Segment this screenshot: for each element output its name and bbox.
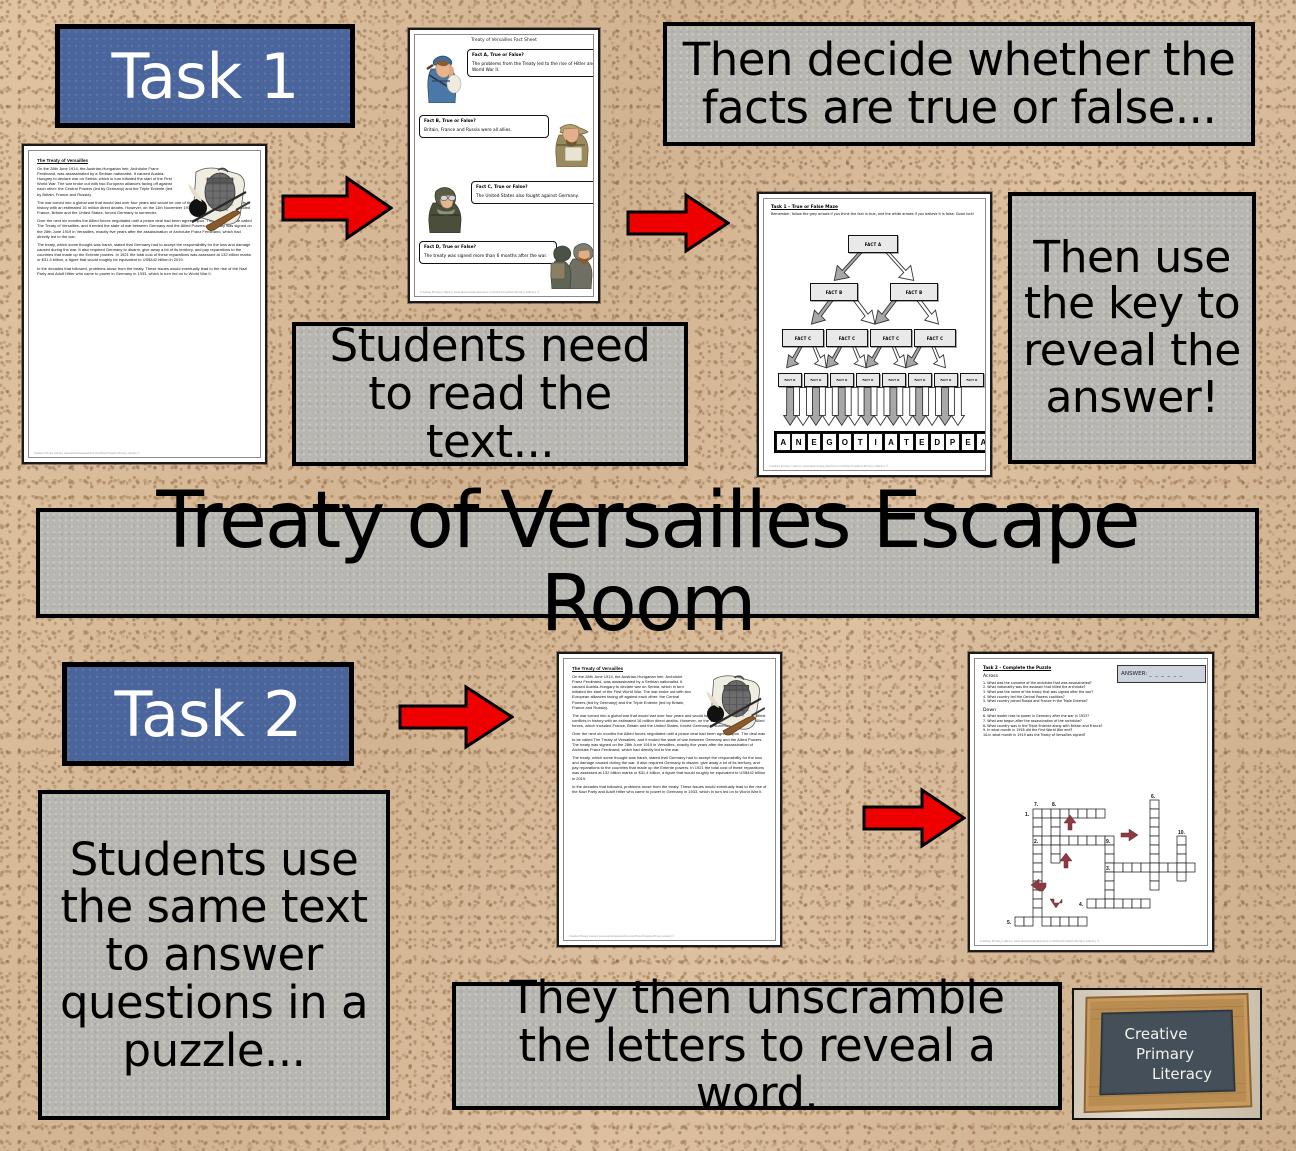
fact-bubble-c: Fact C, True or False? The United States… — [471, 181, 594, 204]
svg-text:8.: 8. — [1052, 802, 1057, 808]
key-letter: T — [899, 433, 914, 451]
red-arrow-right-3 — [398, 682, 514, 752]
key-letter: E — [807, 433, 822, 451]
maze-title: Task 1 – True or False Maze — [771, 205, 978, 210]
key-letter: T — [853, 433, 868, 451]
fact-d-prompt: Fact D, True or False? — [424, 245, 476, 250]
maze-fact-c-1-label: FACT C — [795, 336, 812, 341]
fact-sheet-page: Treaty of Versailles Fact Sheet Fact A, … — [408, 28, 600, 303]
maze-fact-c-2: FACT C — [826, 329, 868, 347]
key-letter: D — [930, 433, 945, 451]
crossword-grid[interactable]: 1.7.8. 2.9.6. 10.3.4. 5. — [999, 791, 1199, 941]
passage2-para-4: The treaty, which some thought was harsh… — [572, 755, 767, 781]
caption-unscramble-text: They then unscramble the letters to reve… — [468, 974, 1046, 1117]
answer-box[interactable]: ANSWER: _ _ _ _ _ _ — [1117, 665, 1206, 683]
fact-d-text: The treaty was signed more than 6 months… — [424, 254, 552, 260]
key-letter: E — [961, 433, 976, 451]
svg-text:10.: 10. — [1178, 830, 1186, 836]
title-banner-text: Treaty of Versailles Escape Room — [40, 480, 1255, 645]
passage2-heading: The Treaty of Versailles — [572, 666, 767, 671]
caption-decide-facts: Then decide whether the facts are true o… — [663, 22, 1255, 146]
caption-read-text-label: Students need to read the text... — [308, 322, 672, 465]
red-arrow-right-2 — [626, 190, 730, 256]
maze-fact-d-2: FACT D — [804, 373, 828, 387]
maze-fact-c-3-label: FACT C — [883, 336, 900, 341]
svg-text:7.: 7. — [1034, 802, 1039, 808]
caption-use-key: Then use the key to reveal the answer! — [1008, 192, 1256, 464]
task2-label: Task 2 — [62, 662, 354, 766]
caption-same-text-puzzle: Students use the same text to answer que… — [38, 790, 390, 1120]
caption-decide-text: Then decide whether the facts are true o… — [681, 36, 1237, 131]
key-letter: A — [776, 433, 791, 451]
logo-chalk-text: Creative Primary Literacy — [1074, 990, 1260, 1118]
key-letter: A — [884, 433, 899, 451]
fact-b-prompt: Fact B, True or False? — [424, 119, 476, 124]
grenade-rifle-clipart-2 — [681, 672, 769, 746]
maze-page: Task 1 – True or False Maze Remember, fo… — [757, 192, 992, 477]
svg-text:6.: 6. — [1151, 794, 1156, 800]
answer-label: ANSWER: — [1121, 671, 1147, 677]
reading-passage-page-task2: The Treaty of Versailles On the 28th Jun… — [557, 652, 782, 947]
maze-fact-d-6: FACT D — [908, 373, 932, 387]
caption-puzzle-text: Students use the same text to answer que… — [52, 836, 376, 1074]
caption-read-text: Students need to read the text... — [292, 322, 688, 466]
maze-fact-c-4: FACT C — [914, 329, 956, 347]
fact-a-prompt: Fact A, True or False? — [472, 53, 524, 58]
maze-fact-d-7-label: FACT D — [940, 379, 951, 382]
svg-text:2.: 2. — [1034, 839, 1039, 845]
maze-fact-b-2: FACT B — [890, 283, 938, 301]
maze-fact-c-1: FACT C — [782, 329, 824, 347]
fact-b-text: Britain, France and Russia were all alli… — [424, 128, 544, 134]
maze-footer: Creative Primary Literacy www.teacherspa… — [769, 465, 889, 468]
maze-fact-d-1: FACT D — [778, 373, 802, 387]
title-banner: Treaty of Versailles Escape Room — [36, 508, 1259, 618]
grenade-rifle-clipart — [162, 164, 254, 242]
across-clue: 5. What country joined Russia and France… — [983, 699, 1199, 704]
maze-fact-d-3: FACT D — [830, 373, 854, 387]
maze-fact-d-8: FACT D — [960, 373, 984, 387]
maze-fact-d-4-label: FACT D — [862, 379, 873, 382]
crossword-footer: Creative Primary Literacy www.teacherspa… — [980, 940, 1100, 943]
key-letter: N — [791, 433, 806, 451]
maze-fact-b-1: FACT B — [810, 283, 858, 301]
logo-line-3: Literacy — [1152, 1064, 1212, 1084]
svg-text:1.: 1. — [1025, 812, 1030, 818]
maze-fact-d-5: FACT D — [882, 373, 906, 387]
maze-fact-d-8-label: FACT D — [966, 379, 977, 382]
maze-instructions: Remember, follow the grey arrows if you … — [771, 212, 978, 216]
key-letter: E — [915, 433, 930, 451]
maze-fact-b-2-label: FACT B — [906, 290, 923, 295]
maze-key-strip: A N E G O T I A T E D P E A C E — [774, 431, 986, 453]
logo-line-1: Creative — [1125, 1024, 1188, 1044]
maze-fact-c-3: FACT C — [870, 329, 912, 347]
task1-label: Task 1 — [55, 24, 355, 128]
svg-text:5.: 5. — [1007, 920, 1012, 926]
soldier-french-icon — [421, 51, 463, 103]
task2-label-text: Task 2 — [115, 678, 302, 751]
soldier-anzac-icon — [547, 115, 594, 167]
passage-para-5: In the decades that followed, problems a… — [37, 266, 252, 276]
fact-bubble-d: Fact D, True or False? The treaty was si… — [419, 241, 557, 264]
down-clue: 10.In what month in 1919 was the Treaty … — [983, 733, 1199, 738]
soldier-german-icon — [549, 233, 594, 289]
maze-fact-d-1-label: FACT D — [784, 379, 795, 382]
fact-sheet-footer: Creative Primary Literacy www.teacherspa… — [420, 291, 540, 294]
key-letter: I — [868, 433, 883, 451]
reading-passage-page-task1: The Treaty of Versailles On the 28th Jun… — [22, 144, 267, 464]
caption-unscramble: They then unscramble the letters to reve… — [452, 982, 1062, 1110]
key-letter: A — [976, 433, 986, 451]
maze-fact-d-5-label: FACT D — [888, 379, 899, 382]
maze-fact-a: FACT A — [848, 235, 898, 253]
maze-fact-d-2-label: FACT D — [810, 379, 821, 382]
fact-c-prompt: Fact C, True or False? — [476, 185, 528, 190]
passage-para-4: The treaty, which some thought was harsh… — [37, 242, 252, 262]
key-letter: P — [945, 433, 960, 451]
fact-c-text: The United States also fought against Ge… — [476, 194, 594, 200]
red-arrow-right-1 — [281, 172, 393, 244]
task1-label-text: Task 1 — [112, 40, 299, 113]
maze-fact-b-1-label: FACT B — [826, 290, 843, 295]
maze-fact-c-4-label: FACT C — [927, 336, 944, 341]
maze-fact-a-label: FACT A — [865, 242, 882, 247]
fact-a-text: The problems from the Treaty led to the … — [472, 62, 594, 74]
logo-line-2: Primary — [1136, 1044, 1194, 1064]
passage-para-1: On the 28th June 1914, the Austrian-Hung… — [37, 166, 172, 197]
fact-sheet-title: Treaty of Versailles Fact Sheet — [420, 38, 588, 43]
down-heading: Down — [983, 708, 1199, 713]
answer-blanks: _ _ _ _ _ _ — [1149, 671, 1183, 677]
soldier-pilot-icon — [423, 181, 467, 233]
svg-text:3.: 3. — [1106, 866, 1111, 872]
fact-bubble-b: Fact B, True or False? Britain, France a… — [419, 115, 549, 138]
crossword-page: Task 2 – Complete the Puzzle ANSWER: _ _… — [968, 652, 1214, 952]
key-letter: G — [822, 433, 837, 451]
passage2-footer: Creative Primary Literacy www.teacherspa… — [569, 935, 674, 938]
caption-key-text: Then use the key to reveal the answer! — [1022, 235, 1242, 422]
passage-footer: Creative Primary Literacy www.teacherspa… — [34, 452, 139, 455]
key-letter: O — [838, 433, 853, 451]
maze-fact-c-2-label: FACT C — [839, 336, 856, 341]
maze-fact-d-7: FACT D — [934, 373, 958, 387]
red-arrow-right-4 — [862, 785, 966, 851]
maze-fact-d-3-label: FACT D — [836, 379, 847, 382]
svg-text:9.: 9. — [1106, 839, 1111, 845]
maze-fact-d-4: FACT D — [856, 373, 880, 387]
brand-logo: Creative Primary Literacy — [1072, 988, 1262, 1120]
maze-fact-d-6-label: FACT D — [914, 379, 925, 382]
svg-text:4.: 4. — [1079, 902, 1084, 908]
passage2-para-1: On the 28th June 1914, the Austrian-Hung… — [572, 674, 693, 710]
passage2-para-5: In the decades that followed, problems a… — [572, 784, 767, 794]
fact-bubble-a: Fact A, True or False? The problems from… — [467, 49, 594, 77]
passage-heading: The Treaty of Versailles — [37, 158, 252, 163]
